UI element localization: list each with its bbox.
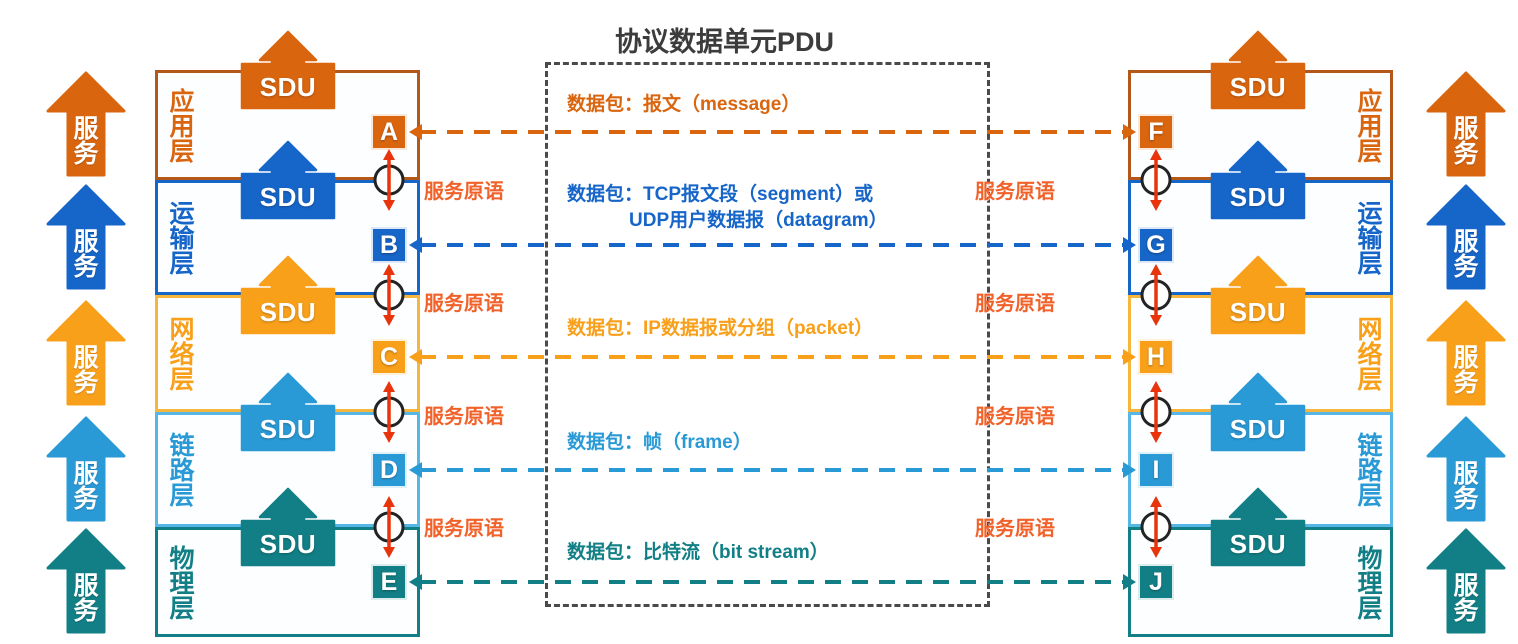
pdu-title: 协议数据单元PDU [615,20,834,59]
sdu-left-physical: SDU [240,487,336,567]
peer-line-network [409,345,1136,369]
pdu-text-line: 数据包：TCP报文段（segment）或 [567,182,888,208]
endpoint-a: A [371,114,407,150]
service-arrow-left-link: 服务 [44,416,128,524]
sdu-label: SDU [1210,297,1306,328]
pdu-text-line: 数据包：IP数据报或分组（packet） [567,316,873,342]
peer-line-transport [409,233,1136,257]
service-arrow-label: 服务 [1449,117,1483,167]
sdu-label: SDU [240,72,336,103]
sdu-left-network: SDU [240,255,336,335]
service-arrow-label: 服务 [1449,462,1483,512]
service-arrow-left-network: 服务 [44,300,128,408]
sdu-left-transport: SDU [240,140,336,220]
layer-label-left-link: 链路层 [163,422,197,518]
service-arrow-label: 服务 [69,230,103,280]
peer-line-application [409,120,1136,144]
service-arrow-label: 服务 [69,462,103,512]
layer-label-right-physical: 物理层 [1351,534,1385,630]
sap-left-transport [369,264,409,326]
endpoint-e: E [371,564,407,600]
service-arrow-right-network: 服务 [1424,300,1508,408]
layer-label-left-network: 网络层 [163,306,197,402]
pdu-text-network: 数据包：IP数据报或分组（packet） [567,316,873,342]
sdu-right-link: SDU [1210,372,1306,452]
service-arrow-left-application: 服务 [44,71,128,179]
endpoint-g: G [1138,227,1174,263]
pdu-text-line: 数据包：比特流（bit stream） [567,540,829,566]
sap-right-application [1136,149,1176,211]
service-arrow-right-transport: 服务 [1424,184,1508,292]
pdu-text-transport: 数据包：TCP报文段（segment）或UDP用户数据报（datagram） [567,182,888,234]
sdu-right-application: SDU [1210,30,1306,110]
service-arrow-label: 服务 [69,346,103,396]
sdu-left-application: SDU [240,30,336,110]
endpoint-d: D [371,452,407,488]
service-arrow-left-physical: 服务 [44,528,128,636]
peer-line-physical [409,570,1136,594]
pdu-text-application: 数据包：报文（message） [567,92,800,118]
sdu-left-link: SDU [240,372,336,452]
service-arrow-right-physical: 服务 [1424,528,1508,636]
pdu-text-line: UDP用户数据报（datagram） [629,208,888,234]
pdu-text-link: 数据包：帧（frame） [567,430,752,456]
sdu-label: SDU [1210,529,1306,560]
primitive-label-left-0: 服务原语 [424,175,504,204]
endpoint-j: J [1138,564,1174,600]
service-arrow-right-link: 服务 [1424,416,1508,524]
primitive-label-right-1: 服务原语 [975,287,1055,316]
layer-label-right-link: 链路层 [1351,422,1385,518]
layer-label-right-network: 网络层 [1351,306,1385,402]
sdu-right-physical: SDU [1210,487,1306,567]
sdu-right-network: SDU [1210,255,1306,335]
sdu-label: SDU [240,414,336,445]
primitive-label-right-3: 服务原语 [975,512,1055,541]
sdu-label: SDU [240,297,336,328]
service-arrow-label: 服务 [69,117,103,167]
sap-right-transport [1136,264,1176,326]
layer-label-left-physical: 物理层 [163,534,197,630]
sdu-label: SDU [1210,72,1306,103]
primitive-label-left-3: 服务原语 [424,512,504,541]
protocol-stack-diagram: 协议数据单元PDU 应用层应用层运输层运输层网络层网络层链路层链路层物理层物理层… [0,0,1518,644]
primitive-label-left-1: 服务原语 [424,287,504,316]
primitive-label-left-2: 服务原语 [424,400,504,429]
pdu-text-line: 数据包：帧（frame） [567,430,752,456]
service-arrow-left-transport: 服务 [44,184,128,292]
service-arrow-label: 服务 [69,574,103,624]
endpoint-i: I [1138,452,1174,488]
layer-label-left-application: 应用层 [163,77,197,173]
sap-right-network [1136,381,1176,443]
sdu-label: SDU [1210,182,1306,213]
service-arrow-label: 服务 [1449,230,1483,280]
sdu-label: SDU [240,529,336,560]
peer-line-link [409,458,1136,482]
service-arrow-right-application: 服务 [1424,71,1508,179]
sdu-right-transport: SDU [1210,140,1306,220]
primitive-label-right-2: 服务原语 [975,400,1055,429]
pdu-text-line: 数据包：报文（message） [567,92,800,118]
layer-label-left-transport: 运输层 [163,190,197,286]
sdu-label: SDU [240,182,336,213]
sap-left-link [369,496,409,558]
layer-label-right-transport: 运输层 [1351,190,1385,286]
endpoint-f: F [1138,114,1174,150]
sap-right-link [1136,496,1176,558]
primitive-label-right-0: 服务原语 [975,175,1055,204]
sap-left-application [369,149,409,211]
layer-label-right-application: 应用层 [1351,77,1385,173]
endpoint-b: B [371,227,407,263]
service-arrow-label: 服务 [1449,574,1483,624]
endpoint-c: C [371,339,407,375]
sdu-label: SDU [1210,414,1306,445]
sap-left-network [369,381,409,443]
pdu-text-physical: 数据包：比特流（bit stream） [567,540,829,566]
endpoint-h: H [1138,339,1174,375]
service-arrow-label: 服务 [1449,346,1483,396]
